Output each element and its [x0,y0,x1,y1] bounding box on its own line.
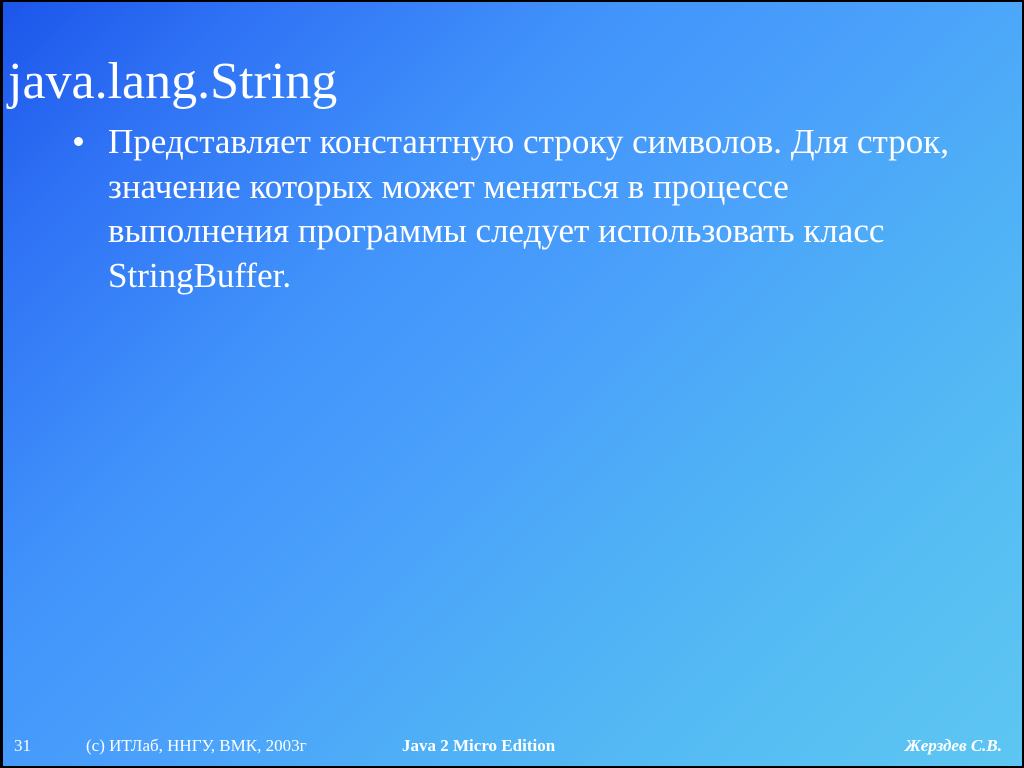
round-bullet-icon [74,137,83,146]
footer-copyright: (с) ИТЛаб, ННГУ, ВМК, 2003г [86,734,307,758]
slide-body-bullet-list: Представляет константную строку символов… [66,120,976,298]
footer-author: Жерздев С.В. [905,734,1002,758]
footer-course-title: Java 2 Micro Edition [402,734,555,758]
bullet-item-text: Представляет константную строку символов… [108,120,976,298]
slide-footer: 31 (с) ИТЛаб, ННГУ, ВМК, 2003г Java 2 Mi… [0,734,1024,760]
footer-slide-number: 31 [14,734,31,758]
bullet-list-item: Представляет константную строку символов… [66,120,976,298]
slide-title: java.lang.String [8,51,1008,113]
presentation-slide: java.lang.String Представляет константну… [0,0,1024,768]
